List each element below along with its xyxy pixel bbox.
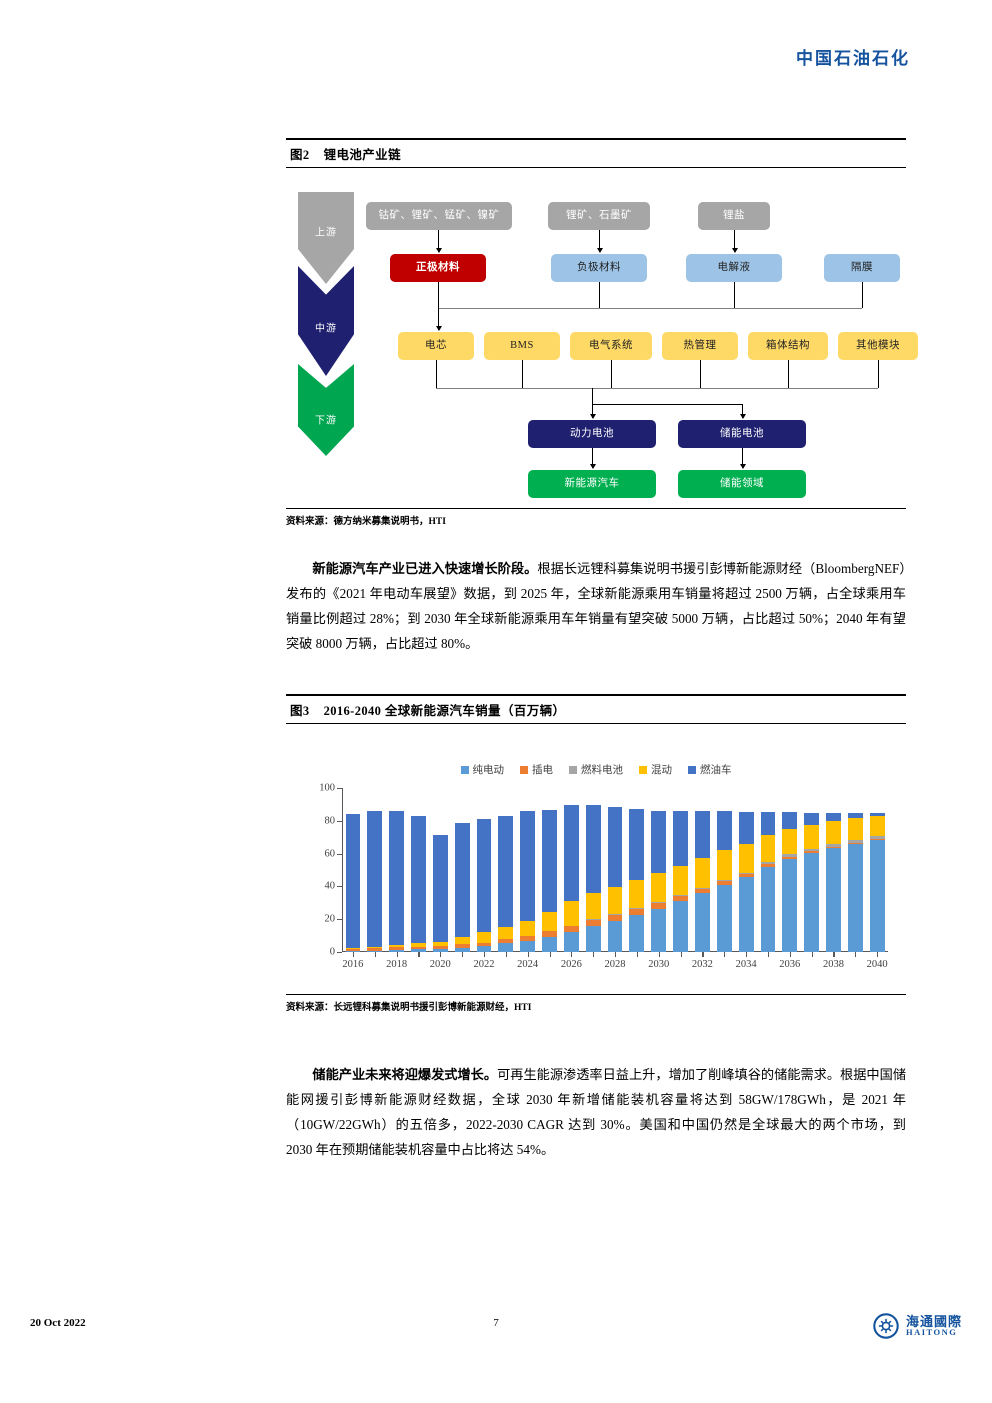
bar-segment xyxy=(629,880,644,908)
node-other-modules: 其他模块 xyxy=(838,332,918,360)
figure-2-number: 图2 xyxy=(290,148,310,162)
x-tick-label: 2036 xyxy=(779,959,800,970)
x-tick-label: 2034 xyxy=(736,959,757,970)
x-tick-mark xyxy=(637,952,638,957)
bar-segment xyxy=(717,811,732,850)
paragraph-2-lead: 储能产业未来将迎爆发式增长。 xyxy=(312,1067,497,1082)
legend-label: 混动 xyxy=(651,762,672,777)
connector-electrolyte-down xyxy=(734,282,735,308)
connector-bus-center xyxy=(592,388,593,404)
x-tick-mark xyxy=(550,952,551,957)
legend-swatch-icon xyxy=(461,766,469,774)
legend-item-2[interactable]: 燃料电池 xyxy=(569,762,623,777)
node-anode-material: 负极材料 xyxy=(551,254,647,282)
x-tick-mark xyxy=(702,952,703,957)
bar-segment xyxy=(477,819,492,932)
page-header-title: 中国石油石化 xyxy=(796,44,910,69)
stacked-bar[interactable] xyxy=(608,807,623,952)
bar-segment xyxy=(651,873,666,902)
stacked-bar[interactable] xyxy=(367,811,382,952)
bar-segment xyxy=(651,909,666,952)
stacked-bar[interactable] xyxy=(433,835,448,952)
legend-item-0[interactable]: 纯电动 xyxy=(461,762,505,777)
x-tick-mark xyxy=(593,952,594,957)
x-tick-cell xyxy=(801,952,823,978)
x-tick-cell xyxy=(670,952,692,978)
arrow-bus-to-cell xyxy=(438,308,439,330)
stacked-bar[interactable] xyxy=(761,812,776,952)
bus-materials-to-cell xyxy=(438,308,862,309)
connector-separator-down xyxy=(862,282,863,308)
x-tick-mark xyxy=(659,952,660,957)
bar-segment xyxy=(455,937,470,944)
bar-segment xyxy=(848,818,863,839)
x-tick-cell: 2032 xyxy=(692,952,714,978)
bar-cell xyxy=(429,788,451,952)
stacked-bar[interactable] xyxy=(739,812,754,952)
stacked-bar[interactable] xyxy=(586,805,601,952)
x-tick-label: 2040 xyxy=(867,959,888,970)
bar-cell xyxy=(342,788,364,952)
connector-bms-down xyxy=(522,360,523,388)
bar-cell xyxy=(670,788,692,952)
x-tick-cell: 2018 xyxy=(386,952,408,978)
x-tick-label: 2026 xyxy=(561,959,582,970)
bar-segment xyxy=(542,937,557,952)
stacked-bar[interactable] xyxy=(498,816,513,952)
x-tick-cell xyxy=(713,952,735,978)
bar-segment xyxy=(346,814,361,948)
stacked-bar[interactable] xyxy=(477,819,492,952)
bar-cell xyxy=(692,788,714,952)
node-thermal-management: 热管理 xyxy=(662,332,738,360)
x-tick-mark xyxy=(353,952,354,957)
figure-2-title-bar: 图2锂电池产业链 xyxy=(286,138,906,168)
bar-segment xyxy=(498,927,513,939)
bar-segment xyxy=(782,859,797,952)
node-electrolyte: 电解液 xyxy=(686,254,782,282)
legend-swatch-icon xyxy=(569,766,577,774)
x-tick-cell xyxy=(626,952,648,978)
legend-label: 燃油车 xyxy=(700,762,732,777)
bar-cell xyxy=(473,788,495,952)
node-storage-battery: 储能电池 xyxy=(678,420,806,448)
logo-text: 海通國際 HAITONG xyxy=(906,1315,962,1338)
bar-segment xyxy=(608,807,623,887)
x-tick-mark xyxy=(746,952,747,957)
bar-segment xyxy=(739,877,754,952)
bar-segment xyxy=(826,848,841,952)
bar-segment xyxy=(477,932,492,943)
bar-segment xyxy=(608,921,623,952)
bar-segment xyxy=(782,829,797,854)
bar-cell xyxy=(801,788,823,952)
bar-segment xyxy=(542,810,557,912)
node-box-structure: 箱体结构 xyxy=(748,332,828,360)
x-tick-cell: 2038 xyxy=(823,952,845,978)
footer-logo: 海通國際 HAITONG xyxy=(873,1313,962,1339)
node-cathode-material: 正极材料 xyxy=(390,254,486,282)
x-tick-cell: 2020 xyxy=(429,952,451,978)
connector-anode-down xyxy=(599,282,600,308)
bar-cell xyxy=(386,788,408,952)
bar-segment xyxy=(498,943,513,952)
figure-3-title: 图32016-2040 全球新能源汽车销量（百万辆） xyxy=(290,700,906,719)
bar-segment xyxy=(455,823,470,937)
bar-segment xyxy=(433,835,448,942)
stacked-bar[interactable] xyxy=(564,805,579,952)
y-tick-label: 20 xyxy=(325,914,336,925)
bar-segment xyxy=(586,893,601,919)
x-tick-label: 2020 xyxy=(430,959,451,970)
y-tick-label: 40 xyxy=(325,881,336,892)
bar-segment xyxy=(804,813,819,825)
x-tick-label: 2038 xyxy=(823,959,844,970)
bar-cell xyxy=(408,788,430,952)
y-tick-label: 100 xyxy=(319,783,335,794)
bar-segment xyxy=(761,812,776,835)
bus-modules-to-battery xyxy=(436,388,878,389)
bar-segment xyxy=(651,811,666,873)
arrow-ore-to-anode xyxy=(599,230,600,252)
bar-segment xyxy=(608,887,623,914)
bar-cell xyxy=(844,788,866,952)
node-separator: 隔膜 xyxy=(824,254,900,282)
bar-segment xyxy=(564,932,579,952)
stacked-bar[interactable] xyxy=(826,813,841,952)
bar-segment xyxy=(826,813,841,821)
x-tick-mark xyxy=(681,952,682,957)
x-tick-mark xyxy=(877,952,878,957)
figure-2-title: 图2锂电池产业链 xyxy=(290,144,906,163)
stacked-bar[interactable] xyxy=(542,810,557,952)
x-tick-cell xyxy=(844,952,866,978)
x-tick-mark xyxy=(615,952,616,957)
bar-segment xyxy=(739,812,754,844)
bar-segment xyxy=(586,926,601,952)
node-ore-anode: 锂矿、石墨矿 xyxy=(548,202,650,230)
bar-segment xyxy=(629,915,644,952)
legend-item-4[interactable]: 燃油车 xyxy=(688,762,732,777)
x-tick-mark xyxy=(528,952,529,957)
bar-cell xyxy=(495,788,517,952)
node-ore-cathode: 钴矿、锂矿、锰矿、镍矿 xyxy=(366,202,512,230)
bar-segment xyxy=(717,885,732,952)
bar-segment xyxy=(389,811,404,945)
stacked-bar[interactable] xyxy=(629,809,644,953)
x-tick-cell: 2040 xyxy=(866,952,888,978)
node-electrical-system: 电气系统 xyxy=(570,332,652,360)
footer-page-number: 7 xyxy=(0,1317,992,1329)
arrow-to-storage-battery xyxy=(742,404,743,418)
bar-segment xyxy=(761,867,776,952)
x-tick-cell xyxy=(539,952,561,978)
bus-split-battery xyxy=(592,404,742,405)
node-lithium-salt: 锂盐 xyxy=(698,202,770,230)
legend-item-3[interactable]: 混动 xyxy=(639,762,672,777)
y-tick-label: 80 xyxy=(325,815,336,826)
tier-downstream-label: 下游 xyxy=(298,412,354,427)
x-tick-cell: 2028 xyxy=(604,952,626,978)
bar-segment xyxy=(870,816,885,836)
x-tick-cell xyxy=(408,952,430,978)
bar-segment xyxy=(564,805,579,901)
x-tick-cell xyxy=(495,952,517,978)
nev-sales-stacked-bar-chart: 纯电动插电燃料电池混动燃油车 020406080100 201620182020… xyxy=(286,724,906,994)
legend-swatch-icon xyxy=(520,766,528,774)
figure-2-block: 图2锂电池产业链 上游 中游 下游 xyxy=(286,138,906,527)
connector-box-down xyxy=(788,360,789,388)
bar-cell xyxy=(539,788,561,952)
bar-segment xyxy=(564,901,579,925)
bar-segment xyxy=(542,912,557,931)
bar-segment xyxy=(826,821,841,844)
x-tick-mark xyxy=(397,952,398,957)
legend-swatch-icon xyxy=(688,766,696,774)
bar-segment xyxy=(520,941,535,952)
x-tick-cell: 2022 xyxy=(473,952,495,978)
bar-cell xyxy=(757,788,779,952)
bar-segment xyxy=(673,811,688,866)
x-tick-cell: 2030 xyxy=(648,952,670,978)
node-power-battery: 动力电池 xyxy=(528,420,656,448)
stacked-bar[interactable] xyxy=(848,813,863,952)
x-tick-mark xyxy=(484,952,485,957)
bar-segment xyxy=(629,809,644,881)
figure-3-block: 图32016-2040 全球新能源汽车销量（百万辆） 纯电动插电燃料电池混动燃油… xyxy=(286,694,906,1013)
stacked-bar[interactable] xyxy=(520,811,535,952)
bar-segment xyxy=(411,816,426,944)
x-tick-label: 2016 xyxy=(342,959,363,970)
x-tick-cell xyxy=(451,952,473,978)
stacked-bar[interactable] xyxy=(695,811,710,952)
bar-cell xyxy=(779,788,801,952)
bar-segment xyxy=(848,844,863,952)
bar-cell xyxy=(604,788,626,952)
x-tick-mark xyxy=(812,952,813,957)
bar-segment xyxy=(870,840,885,952)
x-tick-cell xyxy=(582,952,604,978)
node-storage-field: 储能领域 xyxy=(678,470,806,498)
x-tick-cell: 2034 xyxy=(735,952,757,978)
legend-label: 插电 xyxy=(532,762,553,777)
connector-electrical-down xyxy=(611,360,612,388)
paragraph-nev-industry: 新能源汽车产业已进入快速增长阶段。根据长远锂科募集说明书援引彭博新能源财经（Bl… xyxy=(286,556,906,656)
stacked-bar[interactable] xyxy=(346,814,361,952)
x-tick-mark xyxy=(833,952,834,957)
arrow-ore-to-cathode xyxy=(438,230,439,252)
connector-other-down xyxy=(878,360,879,388)
tier-midstream: 中游 xyxy=(298,266,354,376)
bar-segment xyxy=(804,825,819,849)
bar-segment xyxy=(367,811,382,947)
x-tick-label: 2032 xyxy=(692,959,713,970)
x-tick-mark xyxy=(462,952,463,957)
x-tick-mark xyxy=(790,952,791,957)
paragraph-energy-storage: 储能产业未来将迎爆发式增长。可再生能源渗透率日益上升，增加了削峰填谷的储能需求。… xyxy=(286,1062,906,1162)
bar-cell xyxy=(866,788,888,952)
stacked-bar[interactable] xyxy=(782,812,797,952)
chart-plot-area: 020406080100 201620182020202220242026202… xyxy=(342,788,888,952)
bar-cell xyxy=(735,788,757,952)
x-tick-label: 2018 xyxy=(386,959,407,970)
x-tick-mark xyxy=(571,952,572,957)
bar-segment xyxy=(761,835,776,862)
bar-segment xyxy=(782,812,797,828)
stacked-bar[interactable] xyxy=(870,813,885,952)
x-tick-label: 2030 xyxy=(648,959,669,970)
bar-segment xyxy=(498,816,513,927)
bar-cell xyxy=(626,788,648,952)
bar-segment xyxy=(520,921,535,936)
x-tick-mark xyxy=(724,952,725,957)
node-cell: 电芯 xyxy=(398,332,474,360)
x-tick-cell: 2016 xyxy=(342,952,364,978)
chart-bars xyxy=(342,788,888,952)
x-tick-label: 2028 xyxy=(605,959,626,970)
x-tick-cell xyxy=(364,952,386,978)
bar-cell xyxy=(364,788,386,952)
bar-cell xyxy=(648,788,670,952)
arrow-power-to-nev xyxy=(592,448,593,468)
stacked-bar[interactable] xyxy=(651,810,666,952)
legend-label: 纯电动 xyxy=(473,762,505,777)
chart-x-axis: 2016201820202022202420262028203020322034… xyxy=(342,952,888,978)
logo-chinese-name: 海通國際 xyxy=(906,1315,962,1329)
paragraph-1-lead: 新能源汽车产业已进入快速增长阶段。 xyxy=(312,561,537,576)
figure-2-caption: 锂电池产业链 xyxy=(324,148,401,162)
figure-3-number: 图3 xyxy=(290,704,310,718)
x-tick-mark xyxy=(855,952,856,957)
chevron-midstream-icon: 中游 xyxy=(298,266,354,376)
report-page: 中国石油石化 图2锂电池产业链 上游 中游 xyxy=(0,0,992,1403)
x-tick-cell: 2026 xyxy=(560,952,582,978)
chevron-downstream-icon: 下游 xyxy=(298,364,354,456)
logo-english-name: HAITONG xyxy=(906,1328,962,1337)
haitong-logo-icon xyxy=(873,1313,899,1339)
stacked-bar[interactable] xyxy=(455,823,470,952)
arrow-storage-to-field xyxy=(742,448,743,468)
bar-cell xyxy=(713,788,735,952)
figure-3-source: 资料来源：长远锂科募集说明书援引彭博新能源财经，HTI xyxy=(286,994,906,1013)
bar-segment xyxy=(717,850,732,880)
y-tick-label: 0 xyxy=(330,947,335,958)
bar-segment xyxy=(695,893,710,952)
x-tick-mark xyxy=(375,952,376,957)
bar-segment xyxy=(673,866,688,896)
bar-cell xyxy=(582,788,604,952)
stacked-bar[interactable] xyxy=(804,813,819,952)
bar-segment xyxy=(520,811,535,921)
node-nev: 新能源汽车 xyxy=(528,470,656,498)
x-tick-label: 2024 xyxy=(517,959,538,970)
figure-3-caption: 2016-2040 全球新能源汽车销量（百万辆） xyxy=(324,704,566,718)
bar-segment xyxy=(695,811,710,857)
x-tick-label: 2022 xyxy=(473,959,494,970)
arrow-salt-to-electrolyte xyxy=(734,230,735,252)
bar-segment xyxy=(586,805,601,893)
legend-swatch-icon xyxy=(639,766,647,774)
x-tick-cell: 2024 xyxy=(517,952,539,978)
stacked-bar[interactable] xyxy=(717,811,732,952)
figure-3-title-bar: 图32016-2040 全球新能源汽车销量（百万辆） xyxy=(286,694,906,724)
connector-cell-down xyxy=(436,360,437,388)
bar-cell xyxy=(517,788,539,952)
x-tick-mark xyxy=(418,952,419,957)
stacked-bar[interactable] xyxy=(389,811,404,952)
y-tick-label: 60 xyxy=(325,848,336,859)
x-tick-cell: 2036 xyxy=(779,952,801,978)
legend-label: 燃料电池 xyxy=(581,762,623,777)
figure-2-source: 资料来源：德方纳米募集说明书，HTI xyxy=(286,508,906,527)
legend-item-1[interactable]: 插电 xyxy=(520,762,553,777)
bar-segment xyxy=(695,858,710,888)
bar-cell xyxy=(823,788,845,952)
bar-segment xyxy=(673,901,688,952)
bar-cell xyxy=(560,788,582,952)
x-tick-mark xyxy=(768,952,769,957)
tier-midstream-label: 中游 xyxy=(298,319,354,334)
x-tick-mark xyxy=(440,952,441,957)
stacked-bar[interactable] xyxy=(673,811,688,952)
bar-segment xyxy=(804,853,819,952)
bar-segment xyxy=(739,844,754,873)
chart-legend: 纯电动插电燃料电池混动燃油车 xyxy=(286,762,906,777)
lithium-battery-value-chain-diagram: 上游 中游 下游 钴矿、锂矿、锰矿、镍矿 锂矿、石墨矿 锂盐 xyxy=(286,168,906,508)
bar-cell xyxy=(451,788,473,952)
connector-thermal-down xyxy=(700,360,701,388)
tier-downstream: 下游 xyxy=(298,364,354,456)
tier-upstream-label: 上游 xyxy=(298,223,354,238)
stacked-bar[interactable] xyxy=(411,816,426,952)
node-bms: BMS xyxy=(484,332,560,360)
x-tick-mark xyxy=(506,952,507,957)
x-tick-cell xyxy=(757,952,779,978)
arrow-to-power-battery xyxy=(592,404,593,418)
